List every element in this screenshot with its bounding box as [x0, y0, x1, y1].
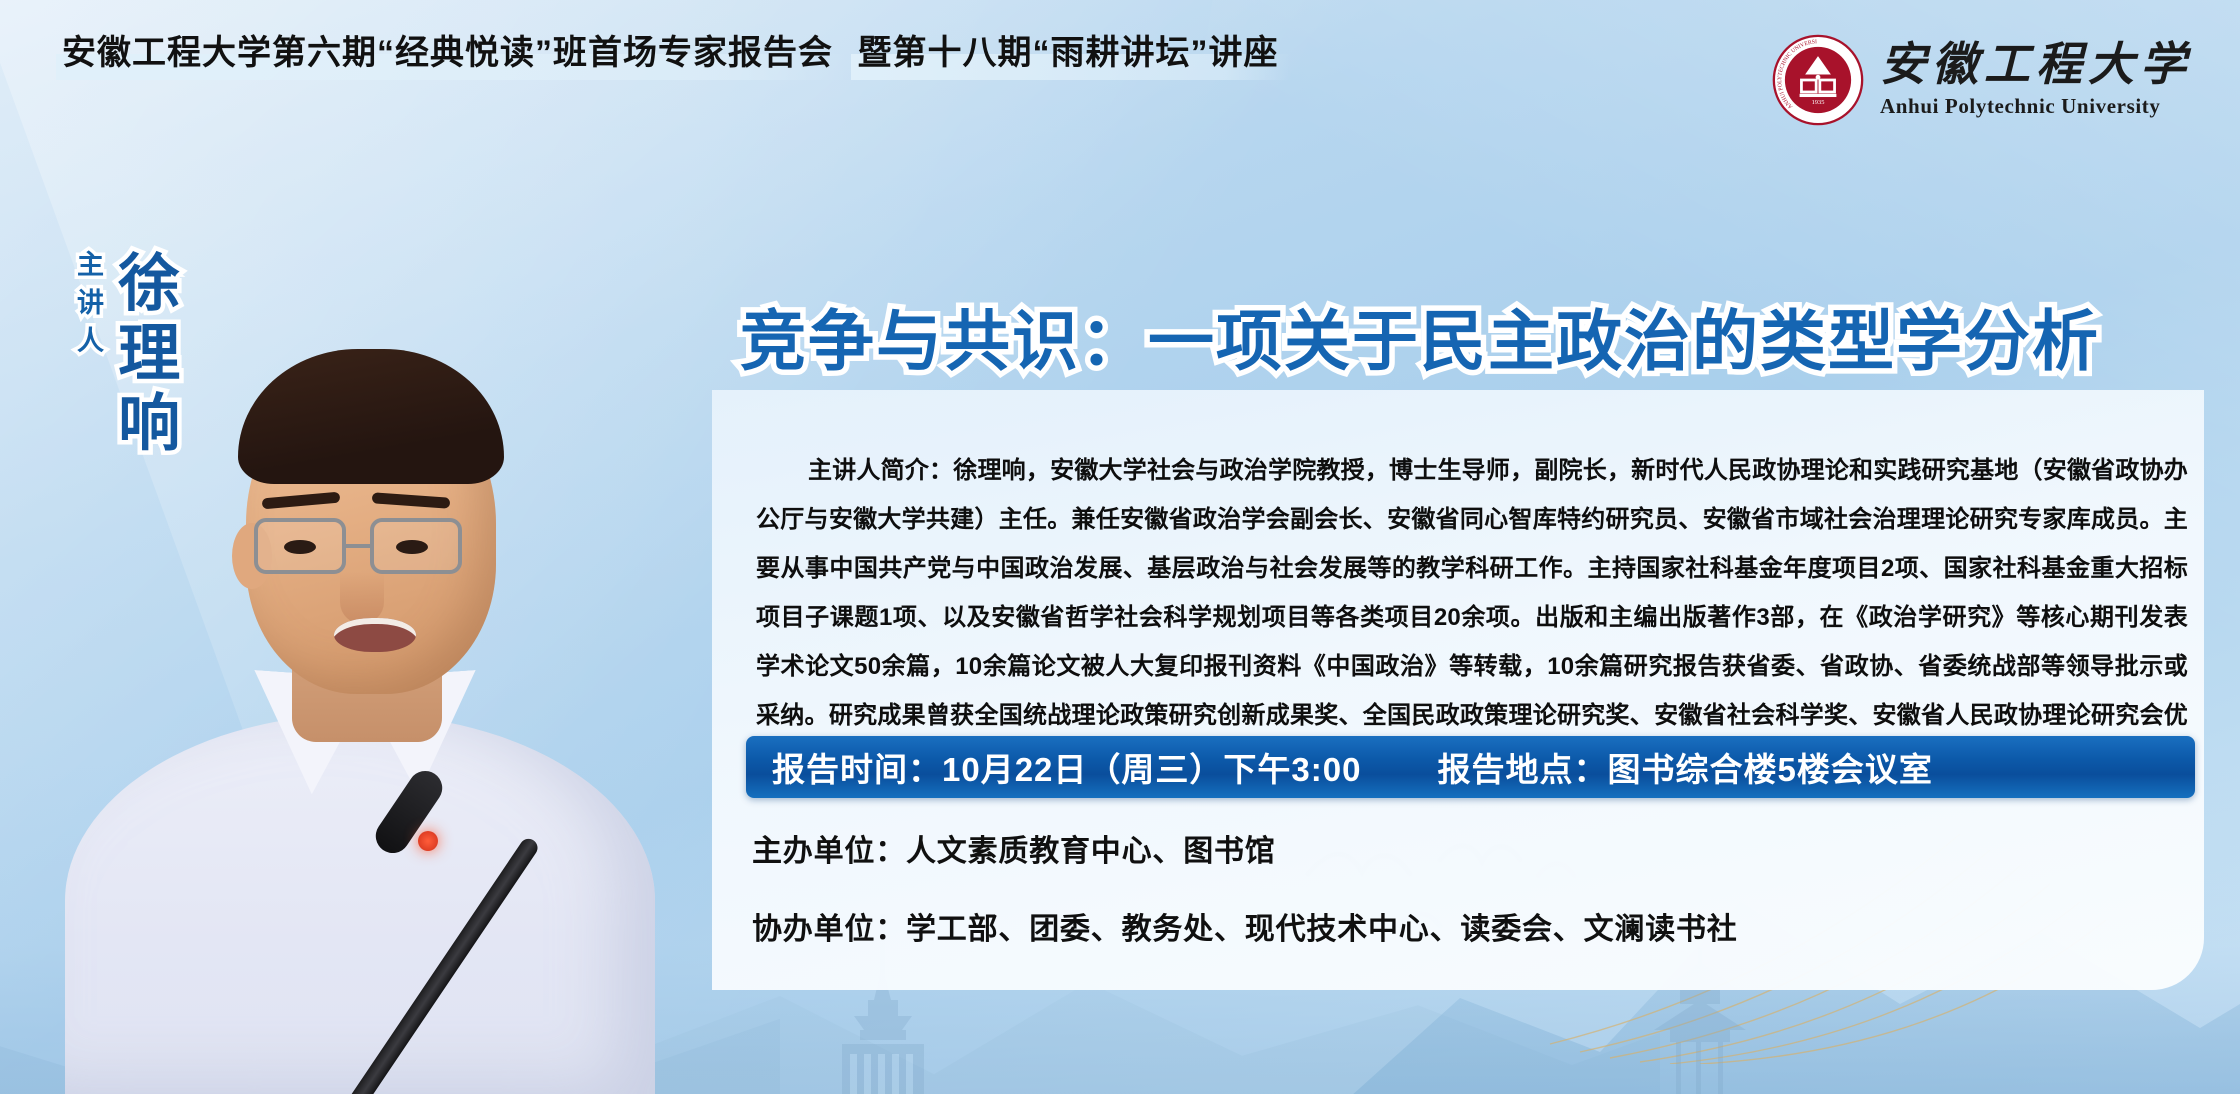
logo-name-cn: 安徽工程大学 [1880, 41, 2192, 89]
seal-year-label: 1935 [1812, 99, 1825, 106]
event-time: 报告时间：10月22日（周三）下午3:00 [772, 743, 1361, 791]
speaker-role-label: 主讲人 [74, 250, 101, 460]
university-logo: 1935 ANHUI POLYTECHNIC UNIVERSITY 安徽工程大学… [1772, 34, 2192, 126]
portrait-eye-right [396, 540, 428, 554]
portrait-nose [340, 572, 384, 624]
header-line-2: 暨第十八期“雨耕讲坛”讲座 [851, 30, 1292, 80]
university-seal-icon: 1935 ANHUI POLYTECHNIC UNIVERSITY [1772, 34, 1864, 126]
portrait-glasses-bridge [346, 544, 370, 548]
portrait-shirt [65, 714, 655, 1094]
co-host-organisation: 协办单位：学工部、团委、教务处、现代技术中心、读委会、文澜读书社 [752, 904, 1738, 948]
lecture-title: 竞争与共识：一项关于民主政治的类型学分析 [740, 288, 2100, 384]
portrait-eye-left [284, 540, 316, 554]
header-titles: 安徽工程大学第六期“经典悦读”班首场专家报告会 暨第十八期“雨耕讲坛”讲座 [56, 30, 1292, 94]
event-info-bar: 报告时间：10月22日（周三）下午3:00 报告地点：图书综合楼5楼会议室 [746, 736, 2195, 798]
host-organisation: 主办单位：人文素质教育中心、图书馆 [752, 826, 1276, 870]
poster-canvas: 安徽工程大学第六期“经典悦读”班首场专家报告会 暨第十八期“雨耕讲坛”讲座 19… [0, 0, 2240, 1094]
portrait-hair [238, 349, 504, 484]
logo-name-en: Anhui Polytechnic University [1880, 94, 2160, 119]
event-location: 报告地点：图书综合楼5楼会议室 [1437, 743, 1932, 791]
microphone-indicator-light [418, 831, 438, 851]
portrait-mouth [334, 618, 416, 652]
speaker-label-block: 主讲人 徐理响 [74, 250, 174, 460]
speaker-name-label: 徐理响 [111, 250, 174, 460]
header-line-1: 安徽工程大学第六期“经典悦读”班首场专家报告会 [56, 30, 847, 80]
